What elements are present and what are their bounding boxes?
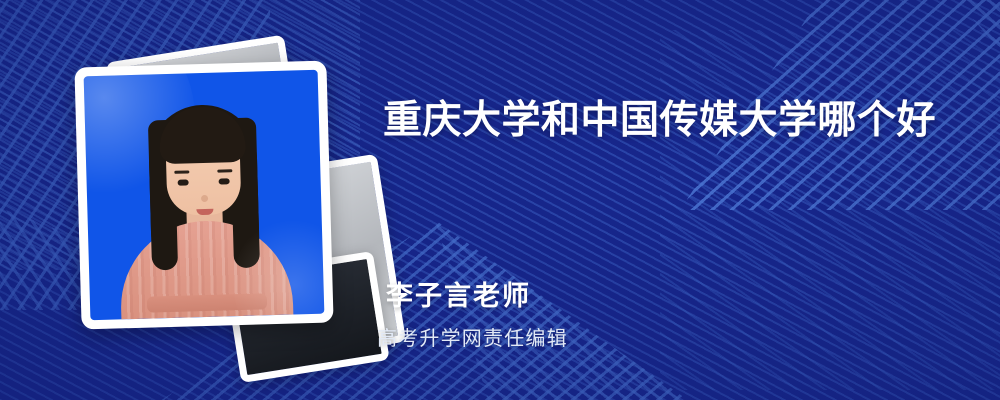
author-role-label: 高考升学网责任编辑 xyxy=(377,322,568,351)
portrait-eyebrow-left xyxy=(174,170,189,173)
portrait-eyebrow-right xyxy=(217,169,232,172)
photo-card-stack xyxy=(62,44,362,344)
portrait-photo xyxy=(84,70,325,320)
portrait-eye-right xyxy=(219,178,230,184)
portrait-eye-left xyxy=(178,179,189,185)
author-photo-card xyxy=(74,61,333,330)
author-name: 李子言老师 xyxy=(386,274,531,313)
portrait-nose xyxy=(201,195,208,202)
portrait-dress-waist xyxy=(147,293,267,312)
portrait-figure xyxy=(101,96,307,319)
article-header-banner: 重庆大学和中国传媒大学哪个好 李子言老师 高考升学网责任编辑 xyxy=(0,0,1000,400)
page-title: 重庆大学和中国传媒大学哪个好 xyxy=(383,99,943,144)
portrait-mouth xyxy=(196,209,213,215)
